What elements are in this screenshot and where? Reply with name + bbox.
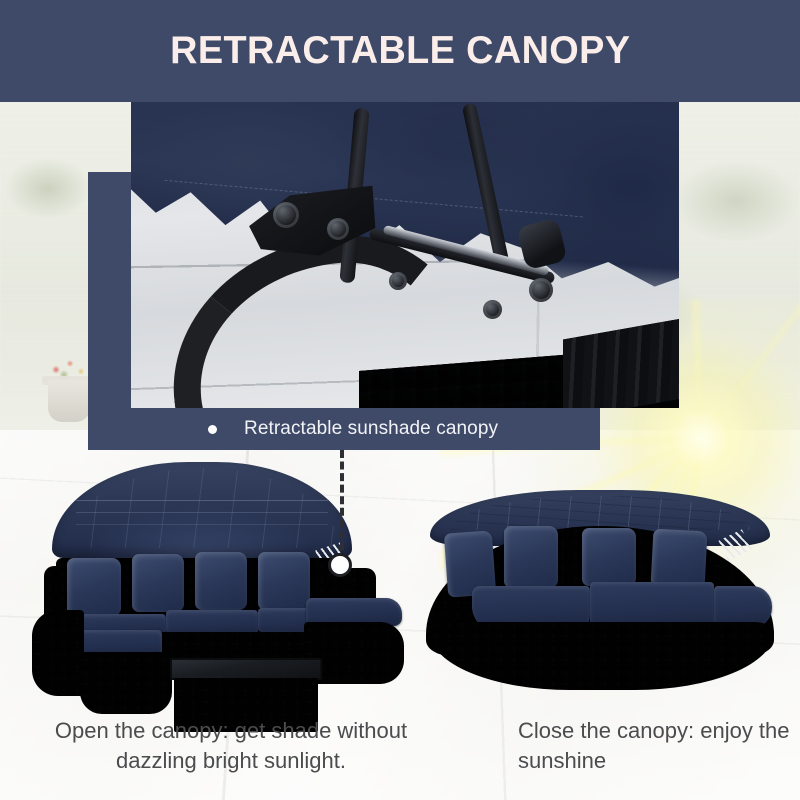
inset-accent-bar	[88, 172, 131, 408]
back-pillow	[132, 554, 184, 612]
back-pillow	[67, 558, 121, 616]
feature-callout-bar: Retractable sunshade canopy	[88, 408, 600, 450]
bottom-caption-row: Open the canopy: get shade without dazzl…	[0, 716, 800, 776]
ottoman-left-side	[32, 610, 84, 696]
hinge-bolt	[389, 272, 407, 290]
feature-callout-text: Retractable sunshade canopy	[244, 418, 498, 440]
dashed-pointer-line	[340, 450, 344, 562]
caption-closed-canopy: Close the canopy: enjoy the sunshine	[450, 716, 800, 776]
ottoman-left	[80, 652, 172, 714]
back-pillow	[258, 552, 310, 610]
inset-photo-canopy-hinge-closeup	[131, 102, 679, 408]
hinge-marker-icon	[328, 553, 352, 577]
hinge-bolt	[483, 300, 502, 319]
caption-open-canopy: Open the canopy: get shade without dazzl…	[0, 716, 450, 776]
back-pillow	[195, 552, 247, 610]
hinge-bolt	[273, 202, 299, 228]
hinge-bolt	[327, 218, 349, 240]
page-title: RETRACTABLE CANOPY	[170, 29, 630, 73]
product-image-canopy-open	[22, 462, 422, 712]
bullet-icon	[208, 425, 217, 434]
product-image-canopy-closed	[412, 490, 800, 712]
seat-cushion	[166, 610, 258, 634]
header-bar: RETRACTABLE CANOPY	[0, 0, 800, 102]
hinge-bolt	[529, 278, 553, 302]
product-infographic: RETRACTABLE CANOPY Retractable sunshade …	[0, 0, 800, 800]
coffee-table-glass-top	[170, 658, 322, 680]
daybed-front-skirt	[430, 622, 774, 690]
back-pillow	[582, 528, 636, 586]
back-pillow	[651, 529, 708, 590]
back-pillow	[504, 526, 558, 588]
